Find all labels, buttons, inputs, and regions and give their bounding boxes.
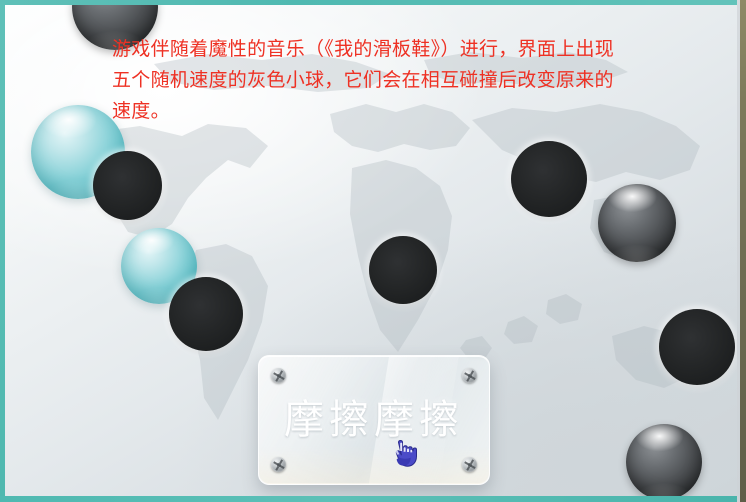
frame-edge-right	[740, 0, 746, 502]
hand-pointer-cursor-icon	[390, 439, 418, 469]
ball-3[interactable]	[93, 151, 162, 220]
frame-edge-left	[0, 0, 5, 502]
glass-plaque-panel[interactable]: 摩擦摩擦	[258, 355, 490, 485]
ball-7[interactable]	[511, 141, 587, 217]
ball-6[interactable]	[369, 236, 437, 304]
screw-top-left-icon	[271, 368, 286, 383]
ball-9[interactable]	[659, 309, 735, 385]
plaque-label: 摩擦摩擦	[259, 400, 489, 440]
presentation-slide: 摩擦摩擦 游戏伴随着魔性的音乐（《我的滑板鞋》）进行，界面上出现五个随机速度的灰…	[0, 0, 746, 502]
screw-top-right-icon	[462, 368, 477, 383]
ball-8[interactable]	[598, 184, 676, 262]
slide-caption: 游戏伴随着魔性的音乐（《我的滑板鞋》）进行，界面上出现五个随机速度的灰色小球，它…	[112, 34, 632, 127]
frame-edge-bottom	[0, 496, 746, 502]
screw-bottom-left-icon	[271, 457, 286, 472]
ball-5[interactable]	[169, 277, 243, 351]
screw-bottom-right-icon	[462, 457, 477, 472]
ball-10[interactable]	[626, 424, 702, 500]
frame-edge-right-inner	[737, 0, 740, 502]
